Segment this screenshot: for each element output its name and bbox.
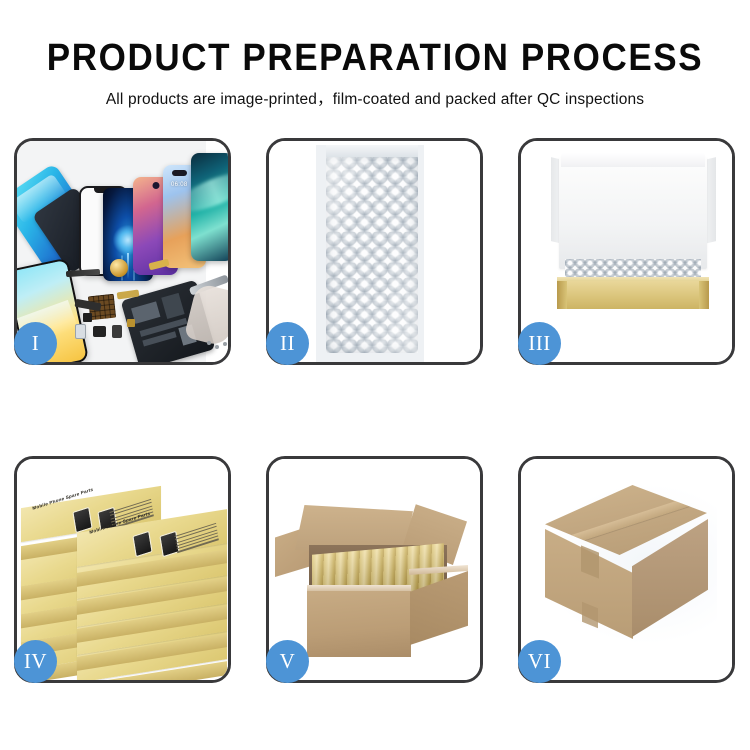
teal-wave-phone-icon <box>191 153 228 261</box>
pouch-seal-edge <box>326 145 418 157</box>
bubble-wrap-pouch-icon <box>326 155 418 353</box>
step-badge-6: VI <box>518 640 561 683</box>
step-badge-4: IV <box>14 640 57 683</box>
speaker-coin-part-icon <box>110 259 128 277</box>
process-steps-grid: 06:08 I <box>14 138 736 683</box>
retail-box-top-right: Mobile Phone Spare Parts <box>77 521 227 575</box>
step-badge-3: III <box>518 322 561 365</box>
micro-chip-icon <box>83 313 92 322</box>
mailer-lid-top-edge <box>561 153 705 167</box>
step-panel-6: VI <box>518 456 735 683</box>
mailer-white-lid <box>559 157 707 269</box>
carton-front-face <box>307 591 411 657</box>
page-title: PRODUCT PREPARATION PROCESS <box>0 0 750 79</box>
camera-module-icon <box>112 325 122 338</box>
step-badge-5: V <box>266 640 309 683</box>
product-preparation-process-page: PRODUCT PREPARATION PROCESS All products… <box>0 0 750 750</box>
step-panel-1: 06:08 I <box>14 138 231 365</box>
step-badge-2: II <box>266 322 309 365</box>
small-module-icon <box>93 326 106 337</box>
mailer-kraft-base <box>557 281 709 309</box>
step-panel-4: Mobile Phone Spare Parts <box>14 456 231 683</box>
step-badge-1: I <box>14 322 57 365</box>
step-panel-3: III <box>518 138 735 365</box>
step-panel-2: II <box>266 138 483 365</box>
screws-icon <box>207 341 228 353</box>
sim-tray-icon <box>75 324 86 339</box>
step-panel-5: V <box>266 456 483 683</box>
page-header: PRODUCT PREPARATION PROCESS All products… <box>0 0 750 109</box>
gold-contact-icon <box>127 319 135 327</box>
